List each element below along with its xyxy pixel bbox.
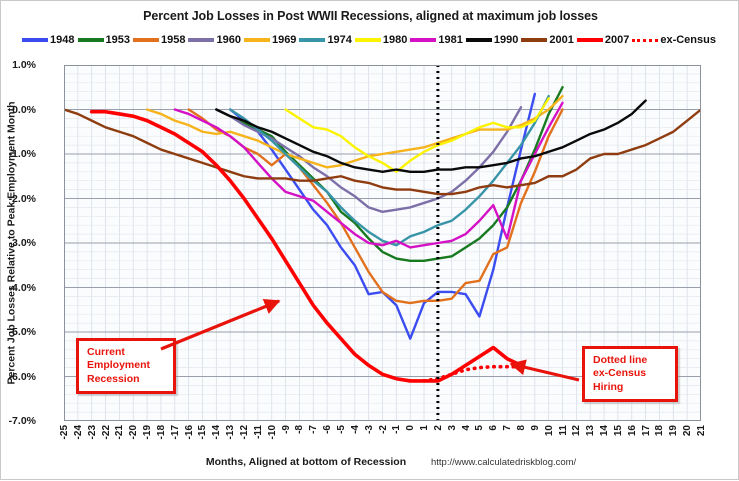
legend-item-1981[interactable]: 1981 (410, 34, 465, 46)
x-tick-label: -24 (73, 425, 84, 439)
x-tick-label: -17 (170, 425, 181, 439)
y-tick-label: -2.0% (0, 193, 36, 205)
legend-item-1974[interactable]: 1974 (299, 34, 354, 46)
x-axis-label: Months, Aligned at bottom of Recession (151, 456, 461, 468)
annotation-line: Current (87, 346, 165, 359)
x-tick-label: 17 (641, 425, 652, 436)
annotation-line: Dotted line (593, 354, 667, 367)
y-tick-label: 1.0% (0, 59, 36, 71)
x-tick-label: -3 (364, 425, 375, 434)
legend-item-1958[interactable]: 1958 (133, 34, 188, 46)
legend-label: ex-Census (660, 34, 716, 46)
legend-item-2007[interactable]: 2007 (577, 34, 632, 46)
x-tick-label: 12 (571, 425, 582, 436)
y-tick-label: -6.0% (0, 371, 36, 383)
source-url: http://www.calculatedriskblog.com/ (431, 457, 681, 468)
x-tick-label: 10 (544, 425, 555, 436)
y-tick-label: -1.0% (0, 148, 36, 160)
x-tick-label: -10 (267, 425, 278, 439)
x-tick-label: -20 (128, 425, 139, 439)
legend-item-2001[interactable]: 2001 (521, 34, 576, 46)
annotation-ex-census-hiring: Dotted lineex-CensusHiring (582, 346, 678, 402)
legend-swatch-icon (521, 38, 547, 42)
x-tick-label: 5 (474, 425, 485, 431)
legend-label: 1974 (327, 34, 351, 46)
x-tick-label: 13 (585, 425, 596, 436)
x-tick-label: -16 (184, 425, 195, 439)
x-tick-label: -2 (378, 425, 389, 434)
legend-swatch-icon (22, 38, 48, 42)
x-tick-label: -25 (59, 425, 70, 439)
annotation-line: ex-Census (593, 367, 667, 380)
x-tick-label: -8 (294, 425, 305, 434)
legend-item-ex-census[interactable]: ex-Census (632, 34, 719, 46)
legend-label: 1953 (106, 34, 130, 46)
legend-label: 1948 (50, 34, 74, 46)
legend-swatch-icon (299, 38, 325, 42)
y-tick-label: -3.0% (0, 237, 36, 249)
annotation-line: Recession (87, 373, 165, 386)
y-tick-label: -4.0% (0, 282, 36, 294)
x-tick-label: -7 (308, 425, 319, 434)
legend-label: 1958 (161, 34, 185, 46)
x-tick-label: 15 (613, 425, 624, 436)
legend-label: 2007 (605, 34, 629, 46)
x-tick-label: 11 (558, 425, 569, 436)
legend-swatch-icon (188, 38, 214, 42)
x-tick-label: 9 (530, 425, 541, 431)
annotation-line: Hiring (593, 381, 667, 394)
x-tick-label: 7 (502, 425, 513, 431)
x-tick-label: -22 (101, 425, 112, 439)
x-tick-label: -12 (239, 425, 250, 439)
x-tick-label: -13 (225, 425, 236, 439)
x-tick-label: -19 (142, 425, 153, 439)
x-tick-label: 0 (405, 425, 416, 431)
legend-label: 1960 (216, 34, 240, 46)
y-tick-label: 0.0% (0, 104, 36, 116)
legend-swatch-icon (632, 39, 658, 42)
annotation-line: Employment (87, 359, 165, 372)
x-tick-label: -5 (336, 425, 347, 434)
legend-item-1960[interactable]: 1960 (188, 34, 243, 46)
chart-title: Percent Job Losses in Post WWII Recessio… (1, 9, 739, 23)
legend-item-1980[interactable]: 1980 (355, 34, 410, 46)
legend-swatch-icon (244, 38, 270, 42)
legend-label: 1969 (272, 34, 296, 46)
x-tick-label: 21 (696, 425, 707, 436)
x-tick-label: -23 (87, 425, 98, 439)
legend-swatch-icon (577, 38, 603, 42)
x-tick-label: 3 (447, 425, 458, 431)
chart-frame: Percent Job Losses in Post WWII Recessio… (0, 0, 739, 480)
legend-item-1948[interactable]: 1948 (22, 34, 77, 46)
x-tick-label: 2 (433, 425, 444, 431)
legend-label: 1990 (494, 34, 518, 46)
x-tick-label: -1 (391, 425, 402, 434)
legend-label: 1980 (383, 34, 407, 46)
legend-item-1990[interactable]: 1990 (466, 34, 521, 46)
y-tick-label: -7.0% (0, 415, 36, 427)
x-tick-label: 14 (599, 425, 610, 436)
x-tick-label: -15 (197, 425, 208, 439)
x-tick-label: -4 (350, 425, 361, 434)
x-tick-label: -9 (281, 425, 292, 434)
x-tick-label: 16 (627, 425, 638, 436)
x-tick-label: 8 (516, 425, 527, 431)
x-tick-label: -6 (322, 425, 333, 434)
legend-label: 1981 (438, 34, 462, 46)
x-tick-label: 1 (419, 425, 430, 431)
x-tick-label: -14 (211, 425, 222, 439)
annotation-current-recession: CurrentEmploymentRecession (76, 338, 176, 394)
x-tick-label: 6 (488, 425, 499, 431)
legend-swatch-icon (355, 38, 381, 42)
legend-swatch-icon (78, 38, 104, 42)
legend-swatch-icon (466, 38, 492, 42)
legend-item-1953[interactable]: 1953 (78, 34, 133, 46)
x-tick-label: 19 (668, 425, 679, 436)
x-tick-label: -21 (114, 425, 125, 439)
legend-swatch-icon (410, 38, 436, 42)
legend-swatch-icon (133, 38, 159, 42)
legend-label: 2001 (549, 34, 573, 46)
x-tick-label: -11 (253, 425, 264, 439)
x-tick-label: -18 (156, 425, 167, 439)
legend-item-1969[interactable]: 1969 (244, 34, 299, 46)
y-tick-label: -5.0% (0, 326, 36, 338)
chart-legend: 1948195319581960196919741980198119902001… (1, 34, 739, 46)
x-tick-label: 18 (654, 425, 665, 436)
x-tick-label: 4 (461, 425, 472, 431)
x-tick-label: 20 (682, 425, 693, 436)
